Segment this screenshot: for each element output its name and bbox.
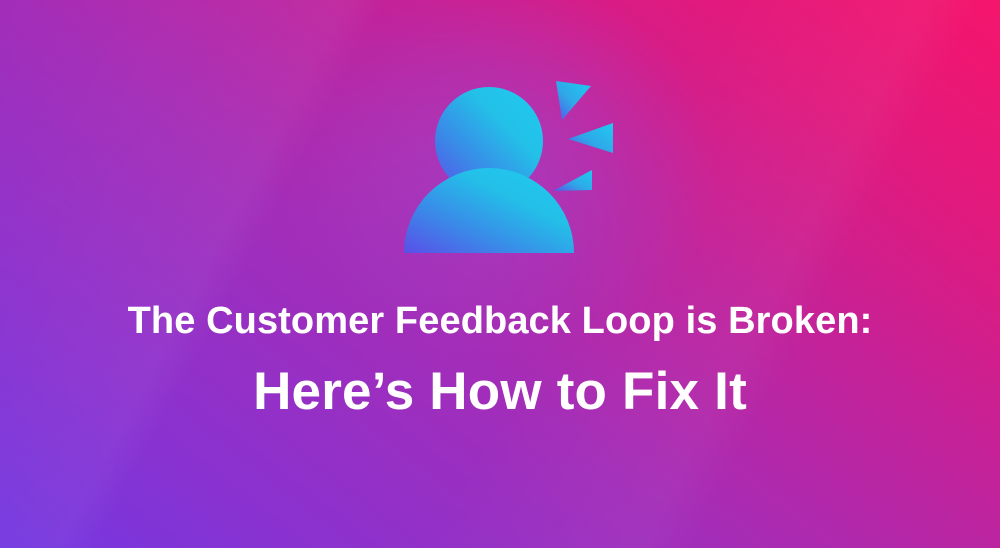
- speech-line-middle-icon: [568, 123, 613, 153]
- headline-line-1: The Customer Feedback Loop is Broken:: [0, 300, 1000, 343]
- headline-line-2: Here’s How to Fix It: [0, 361, 1000, 424]
- speech-line-bottom-icon: [553, 170, 592, 191]
- speech-line-top-icon: [556, 81, 591, 120]
- header-graphic-card: The Customer Feedback Loop is Broken: He…: [0, 0, 1000, 548]
- body-dome: [404, 168, 574, 253]
- speaking-person-icon: [370, 70, 630, 270]
- headline: The Customer Feedback Loop is Broken: He…: [0, 300, 1000, 423]
- icon-container: [0, 0, 1000, 290]
